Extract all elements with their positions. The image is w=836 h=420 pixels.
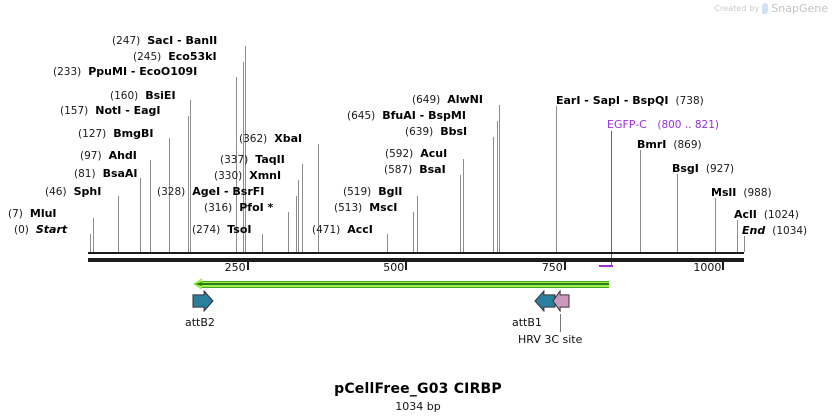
enzyme-site-position: (513)	[334, 202, 362, 214]
enzyme-site-position: (245)	[133, 51, 161, 63]
enzyme-name: AccI	[347, 223, 373, 236]
enzyme-site-label[interactable]: EarI - SapI - BspQI (738)	[556, 95, 704, 107]
enzyme-site-names: Eco53kI	[168, 50, 216, 63]
enzyme-site-names: BsiEI	[145, 89, 175, 102]
enzyme-name: BglI	[378, 185, 402, 198]
ruler-tick-label: 1000	[693, 261, 721, 274]
enzyme-name: AlwNI	[447, 93, 483, 106]
enzyme-site-label[interactable]: (362) XbaI	[239, 133, 302, 145]
ruler-tick	[564, 262, 566, 270]
enzyme-site-label[interactable]: (245) Eco53kI	[133, 51, 217, 63]
enzyme-site-names: XbaI	[274, 132, 302, 145]
site-leader-line	[556, 106, 557, 252]
enzyme-name: Start	[36, 223, 67, 236]
site-leader-line	[715, 198, 716, 252]
feature-label: attB1	[512, 316, 542, 329]
egfp-marker-tick	[599, 265, 613, 267]
enzyme-name-separator: -	[620, 94, 632, 107]
enzyme-site-position: (330)	[214, 170, 242, 182]
enzyme-name: EcoO109I	[139, 65, 197, 78]
hrv-3c-connector-line	[560, 314, 561, 332]
enzyme-site-label[interactable]: (46) SphI	[45, 186, 101, 198]
enzyme-name: BmrI	[637, 138, 666, 151]
site-leader-line	[463, 159, 464, 252]
enzyme-site-label[interactable]: End (1034)	[742, 225, 807, 237]
site-leader-line	[118, 196, 119, 252]
ruler-tick-label: 750	[542, 261, 563, 274]
enzyme-site-names: MluI	[30, 207, 57, 220]
enzyme-name: XbaI	[274, 132, 302, 145]
enzyme-site-position: (869)	[673, 139, 701, 151]
enzyme-site-position: (160)	[110, 90, 138, 102]
enzyme-site-names: MscI	[369, 201, 397, 214]
enzyme-site-position: (81)	[74, 168, 96, 180]
enzyme-site-names: BbsI	[440, 125, 467, 138]
ruler-tick-label: 250	[225, 261, 246, 274]
site-leader-line	[417, 196, 418, 252]
enzyme-site-label[interactable]: (7) MluI	[8, 208, 57, 220]
enzyme-site-names: PfoI *	[239, 201, 273, 214]
page-title: pCellFree_G03 CIRBP	[0, 381, 836, 397]
enzyme-name: MluI	[30, 207, 57, 220]
enzyme-site-names: SphI	[74, 185, 102, 198]
enzyme-site-position: (274)	[192, 224, 220, 236]
enzyme-site-label[interactable]: (127) BmgBI	[78, 128, 153, 140]
snapgene-brand-text: SnapGene	[771, 2, 828, 15]
enzyme-site-position: (316)	[204, 202, 232, 214]
enzyme-site-position: (639)	[405, 126, 433, 138]
enzyme-name-separator: -	[220, 185, 232, 198]
enzyme-name: BsrFI	[232, 185, 264, 198]
enzyme-site-label[interactable]: (330) XmnI	[214, 170, 281, 182]
enzyme-site-names: AclI	[734, 208, 757, 221]
enzyme-name: BsaI	[419, 163, 445, 176]
enzyme-name: Eco53kI	[168, 50, 216, 63]
orf-arrowhead-left-icon	[193, 278, 202, 290]
ruler-tick	[722, 262, 724, 270]
ruler-tick	[247, 262, 249, 270]
enzyme-site-names: BsaAI	[103, 167, 138, 180]
enzyme-site-label[interactable]: (97) AhdI	[80, 150, 137, 162]
enzyme-site-names: End	[742, 224, 765, 237]
enzyme-site-label[interactable]: (649) AlwNI	[412, 94, 483, 106]
ruler-bottom-line	[88, 258, 744, 262]
enzyme-site-names: SacI - BanII	[147, 34, 217, 47]
enzyme-site-label[interactable]: (328) AgeI - BsrFI	[157, 186, 264, 198]
enzyme-site-label[interactable]: BmrI (869)	[637, 139, 702, 151]
enzyme-site-label[interactable]: (471) AccI	[312, 224, 373, 236]
enzyme-site-label[interactable]: (157) NotI - EagI	[60, 105, 161, 117]
site-leader-line	[245, 46, 246, 252]
enzyme-name: AcuI	[420, 147, 447, 160]
enzyme-name: End	[742, 224, 765, 237]
enzyme-site-position: (0)	[14, 224, 29, 236]
ruler-top-line	[88, 252, 744, 254]
enzyme-site-position: (519)	[343, 186, 371, 198]
enzyme-site-position: (362)	[239, 133, 267, 145]
enzyme-site-label[interactable]: (233) PpuMI - EcoO109I	[53, 66, 197, 78]
enzyme-site-names: AgeI - BsrFI	[192, 185, 264, 198]
enzyme-site-label[interactable]: (519) BglI	[343, 186, 402, 198]
feature-label: attB2	[185, 316, 215, 329]
site-leader-line	[493, 137, 494, 252]
enzyme-name: BspMI	[428, 109, 466, 122]
site-leader-line	[262, 234, 263, 252]
site-leader-line	[288, 212, 289, 252]
site-leader-line	[460, 175, 461, 252]
enzyme-site-position: (649)	[412, 94, 440, 106]
enzyme-site-label[interactable]: (639) BbsI	[405, 126, 467, 138]
enzyme-site-label[interactable]: (81) BsaAI	[74, 168, 138, 180]
enzyme-site-names: MslI	[711, 186, 736, 199]
enzyme-name: BfuAI	[382, 109, 416, 122]
site-leader-line	[497, 121, 498, 252]
enzyme-site-position: (738)	[676, 95, 704, 107]
enzyme-site-label[interactable]: (160) BsiEI	[110, 90, 176, 102]
enzyme-name: BmgBI	[113, 127, 153, 140]
egfp-marker-line	[611, 131, 612, 266]
enzyme-site-label[interactable]: (0) Start	[14, 224, 67, 236]
enzyme-site-names: Start	[36, 223, 67, 236]
feature-hrv-3c-site-arrow[interactable]	[552, 290, 570, 312]
ruler-tick	[405, 262, 407, 270]
enzyme-name: PpuMI	[88, 65, 127, 78]
enzyme-site-position: (247)	[112, 35, 140, 47]
site-leader-line	[302, 164, 303, 252]
enzyme-name-separator: -	[121, 104, 133, 117]
enzyme-site-label[interactable]: (337) TaqII	[220, 154, 285, 166]
enzyme-name: AgeI	[192, 185, 220, 198]
site-leader-line	[140, 178, 141, 252]
enzyme-site-position: (471)	[312, 224, 340, 236]
site-leader-line	[744, 236, 745, 252]
enzyme-site-names: BmgBI	[113, 127, 153, 140]
enzyme-site-names: EarI - SapI - BspQI	[556, 94, 669, 107]
enzyme-name-separator: -	[127, 65, 139, 78]
enzyme-site-label[interactable]: BsgI (927)	[672, 163, 734, 175]
enzyme-name: SacI	[147, 34, 173, 47]
enzyme-site-position: (46)	[45, 186, 67, 198]
enzyme-site-names: BfuAI - BspMI	[382, 109, 466, 122]
sequence-length-label: 1034 bp	[0, 400, 836, 413]
enzyme-site-position: (988)	[743, 187, 771, 199]
site-leader-line	[387, 234, 388, 252]
enzyme-name: SphI	[74, 185, 102, 198]
enzyme-site-position: (1024)	[764, 209, 799, 221]
site-leader-line	[677, 174, 678, 252]
enzyme-name-separator: -	[173, 34, 185, 47]
enzyme-name: BsgI	[672, 162, 699, 175]
site-leader-line	[737, 220, 738, 252]
site-leader-line	[93, 218, 94, 252]
enzyme-site-names: NotI - EagI	[95, 104, 160, 117]
site-leader-line	[90, 234, 91, 252]
enzyme-site-label[interactable]: AclI (1024)	[734, 209, 799, 221]
enzyme-site-names: BglI	[378, 185, 402, 198]
egfp-marker-label[interactable]: EGFP-C (800 .. 821)	[607, 119, 719, 131]
enzyme-site-label[interactable]: (513) MscI	[334, 202, 397, 214]
enzyme-site-label[interactable]: MslI (988)	[711, 187, 772, 199]
orf-green-core	[202, 283, 609, 285]
enzyme-site-label[interactable]: (247) SacI - BanII	[112, 35, 217, 47]
enzyme-name: MslI	[711, 186, 736, 199]
site-leader-line	[499, 105, 500, 252]
feature-attb2-arrow[interactable]	[192, 290, 214, 312]
enzyme-site-names: AcuI	[420, 147, 447, 160]
enzyme-site-names: PpuMI - EcoO109I	[88, 65, 197, 78]
enzyme-name: MscI	[369, 201, 397, 214]
enzyme-site-position: (1034)	[772, 225, 807, 237]
site-leader-line	[640, 150, 641, 252]
enzyme-name: XmnI	[249, 169, 281, 182]
enzyme-name: BspQI	[632, 94, 668, 107]
enzyme-site-position: (645)	[347, 110, 375, 122]
enzyme-name: BsiEI	[145, 89, 175, 102]
enzyme-site-names: BsaI	[419, 163, 445, 176]
enzyme-site-names: BmrI	[637, 138, 666, 151]
orf-arrowhead-inner	[195, 282, 202, 286]
enzyme-site-position: (328)	[157, 186, 185, 198]
enzyme-name-separator: -	[580, 94, 592, 107]
enzyme-site-label[interactable]: (645) BfuAI - BspMI	[347, 110, 466, 122]
enzyme-site-position: (233)	[53, 66, 81, 78]
enzyme-name: BanII	[185, 34, 217, 47]
enzyme-site-names: AlwNI	[447, 93, 483, 106]
enzyme-site-position: (927)	[706, 163, 734, 175]
enzyme-name: NotI	[95, 104, 121, 117]
enzyme-site-label[interactable]: (592) AcuI	[385, 148, 447, 160]
enzyme-name-separator: -	[416, 109, 428, 122]
site-leader-line	[150, 160, 151, 252]
enzyme-site-position: (337)	[220, 154, 248, 166]
site-leader-line	[298, 180, 299, 252]
snapgene-logo-icon	[762, 3, 768, 14]
enzyme-site-position: (127)	[78, 128, 106, 140]
enzyme-name: AhdI	[109, 149, 137, 162]
enzyme-site-label[interactable]: (274) TsoI	[192, 224, 251, 236]
enzyme-site-position: (97)	[80, 150, 102, 162]
enzyme-name: AclI	[734, 208, 757, 221]
enzyme-name: EagI	[134, 104, 161, 117]
site-leader-line	[413, 212, 414, 252]
site-leader-line	[296, 196, 297, 252]
enzyme-name: TaqII	[255, 153, 285, 166]
enzyme-site-names: AhdI	[109, 149, 137, 162]
enzyme-name: SapI	[593, 94, 620, 107]
enzyme-name: TsoI	[227, 223, 251, 236]
enzyme-site-names: AccI	[347, 223, 373, 236]
enzyme-site-names: BsgI	[672, 162, 699, 175]
enzyme-site-label[interactable]: (587) BsaI	[384, 164, 446, 176]
plasmid-map-canvas: Created by SnapGene (0) Start(7) MluI(46…	[0, 0, 836, 420]
enzyme-site-position: (157)	[60, 105, 88, 117]
egfp-marker-name: EGFP-C	[607, 118, 647, 131]
feature-label: HRV 3C site	[518, 333, 582, 346]
orf-green-bar[interactable]	[202, 281, 609, 288]
created-by-text: Created by	[714, 4, 759, 13]
enzyme-site-position: (7)	[8, 208, 23, 220]
enzyme-name: BsaAI	[103, 167, 138, 180]
site-leader-line	[188, 116, 189, 252]
enzyme-site-names: TaqII	[255, 153, 285, 166]
enzyme-name: BbsI	[440, 125, 467, 138]
ruler-tick-label: 500	[383, 261, 404, 274]
snapgene-watermark: Created by SnapGene	[714, 2, 828, 15]
egfp-marker-range: (800 .. 821)	[657, 119, 719, 131]
enzyme-name: EarI	[556, 94, 580, 107]
enzyme-name: PfoI *	[239, 201, 273, 214]
enzyme-site-names: XmnI	[249, 169, 281, 182]
enzyme-site-label[interactable]: (316) PfoI *	[204, 202, 273, 214]
enzyme-site-position: (592)	[385, 148, 413, 160]
site-leader-line	[190, 100, 191, 252]
enzyme-site-position: (587)	[384, 164, 412, 176]
enzyme-site-names: TsoI	[227, 223, 251, 236]
